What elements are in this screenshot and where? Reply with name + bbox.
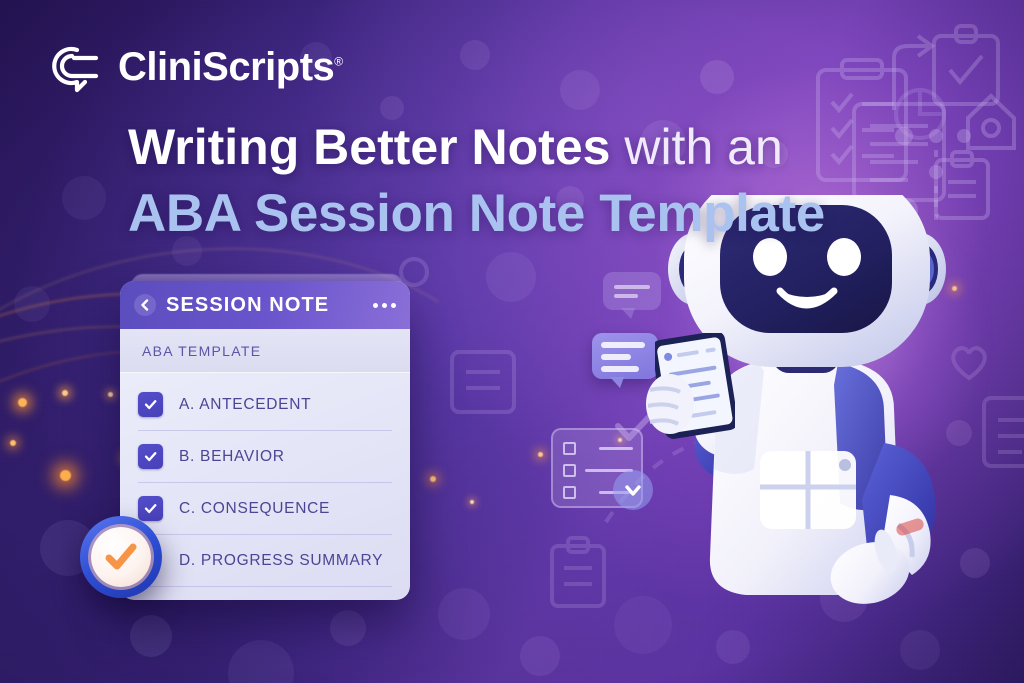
card-title: SESSION NOTE bbox=[166, 294, 329, 317]
list-item[interactable]: B. BEHAVIOR bbox=[138, 431, 392, 483]
promo-banner: CliniScripts® Writing Better Notes with … bbox=[0, 0, 1024, 683]
checkbox-checked-icon[interactable] bbox=[138, 496, 163, 521]
brand-name: CliniScripts® bbox=[118, 47, 343, 87]
robot-hand bbox=[640, 368, 694, 440]
badge-inner-disc bbox=[91, 527, 151, 587]
checkbox-checked-icon[interactable] bbox=[138, 444, 163, 469]
list-item-label: C. CONSEQUENCE bbox=[179, 500, 330, 518]
headline-line2: ABA Session Note Template bbox=[128, 183, 825, 245]
list-item[interactable]: C. CONSEQUENCE bbox=[138, 483, 392, 535]
cliniscripts-speech-bubble-logo bbox=[44, 40, 106, 94]
card-subtitle: ABA TEMPLATE bbox=[142, 343, 261, 359]
card-subtitle-bar: ABA TEMPLATE bbox=[120, 329, 410, 373]
list-item[interactable]: A. ANTECEDENT bbox=[138, 379, 392, 431]
more-options-icon[interactable] bbox=[373, 303, 396, 308]
list-item-label: A. ANTECEDENT bbox=[179, 396, 311, 414]
trademark-symbol: ® bbox=[334, 55, 342, 69]
checkmark-glyph bbox=[143, 501, 158, 516]
brand-logo[interactable]: CliniScripts® bbox=[44, 40, 343, 94]
checkbox-checked-icon[interactable] bbox=[138, 392, 163, 417]
headline-line1-bold: Writing Better Notes bbox=[128, 119, 610, 175]
headline-line1-light: with an bbox=[610, 119, 782, 175]
checkmark-glyph bbox=[143, 449, 158, 464]
orange-checkmark-icon bbox=[101, 537, 141, 577]
chevron-left-icon bbox=[139, 299, 151, 311]
checklist: A. ANTECEDENT B. BEHAVIOR C. CONSEQUENCE bbox=[120, 373, 410, 587]
page-title: Writing Better Notes with an ABA Session… bbox=[128, 118, 825, 245]
list-item-label: B. BEHAVIOR bbox=[179, 448, 285, 466]
session-note-card[interactable]: SESSION NOTE ABA TEMPLATE A. ANTECEDENT bbox=[120, 281, 410, 600]
status-badge bbox=[80, 516, 162, 598]
back-button[interactable] bbox=[134, 294, 156, 316]
checkmark-glyph bbox=[143, 397, 158, 412]
list-item-label: D. PROGRESS SUMMARY bbox=[179, 552, 383, 570]
list-item[interactable]: D. PROGRESS SUMMARY bbox=[138, 535, 392, 587]
card-header: SESSION NOTE bbox=[120, 281, 410, 329]
